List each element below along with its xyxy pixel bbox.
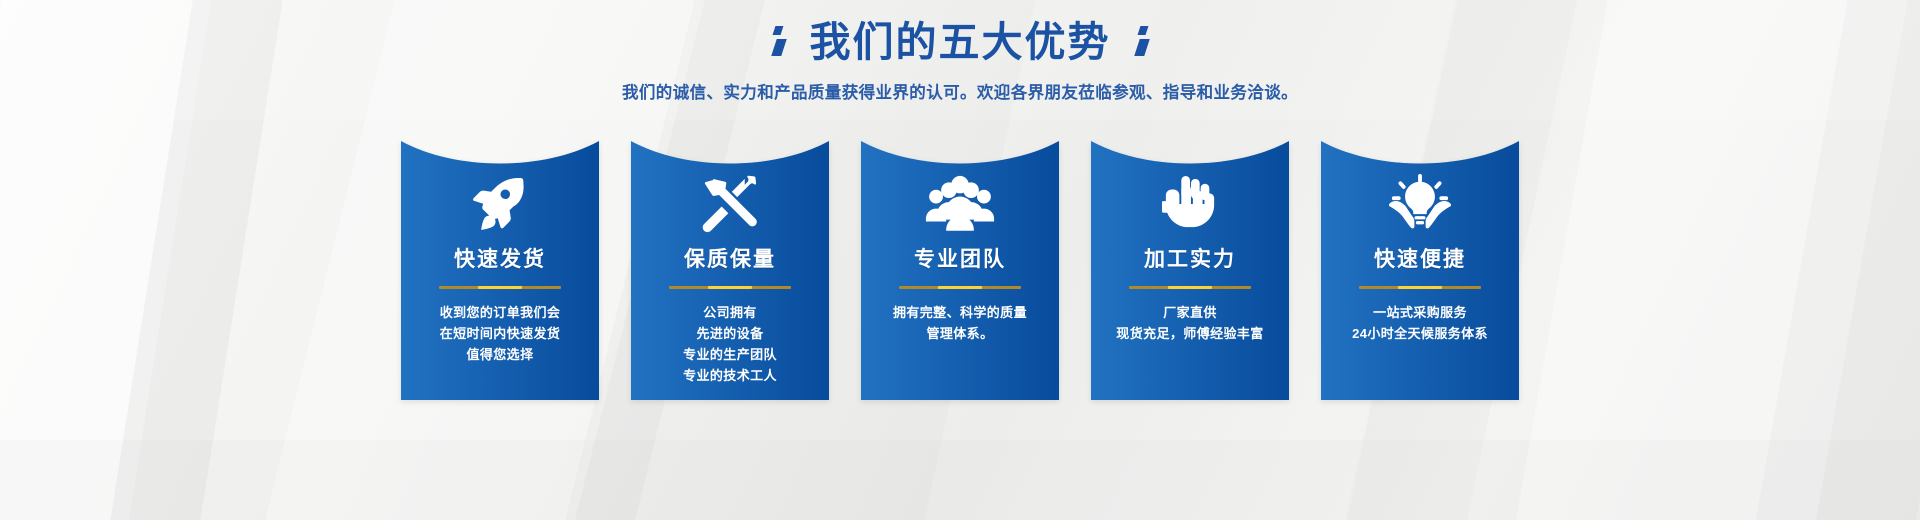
advantage-card-list: 快速发货 收到您的订单我们会 在短时间内快速发货 值得您选择 xyxy=(0,141,1920,400)
page-subtitle: 我们的诚信、实力和产品质量获得业界的认可。欢迎各界朋友莅临参观、指导和业务洽谈。 xyxy=(0,79,1920,103)
card-body: 厂家直供 现货充足，师傅经验丰富 xyxy=(1106,302,1273,344)
advantage-card[interactable]: 专业团队 拥有完整、科学的质量 管理体系。 xyxy=(861,141,1059,400)
bg-band-bottom xyxy=(0,440,1920,520)
card-body: 一站式采购服务 24小时全天候服务体系 xyxy=(1342,302,1498,344)
advantage-card[interactable]: 加工实力 厂家直供 现货充足，师傅经验丰富 xyxy=(1091,141,1289,400)
card-title: 保质保量 xyxy=(684,249,776,270)
card-divider xyxy=(1359,286,1481,289)
card-title: 专业团队 xyxy=(914,249,1006,270)
title-row: 我们的五大优势 xyxy=(0,22,1920,63)
card-divider xyxy=(439,286,561,289)
card-body: 公司拥有 先进的设备 专业的生产团队 专业的技术工人 xyxy=(673,302,787,386)
rocket-icon xyxy=(401,141,599,253)
diamond-dots-right-icon xyxy=(1137,26,1147,60)
banner-stage: 我们的五大优势 我们的诚信、实力和产品质量获得业界的认可。欢迎各界朋友莅临参观、… xyxy=(0,0,1920,520)
card-divider xyxy=(899,286,1021,289)
page-title: 我们的五大优势 xyxy=(810,22,1111,63)
card-title: 加工实力 xyxy=(1144,249,1236,270)
advantage-card[interactable]: 保质保量 公司拥有 先进的设备 专业的生产团队 专业的技术工人 xyxy=(631,141,829,400)
lightbulb-hands-icon xyxy=(1321,141,1519,253)
people-group-icon xyxy=(861,141,1059,253)
card-title: 快速便捷 xyxy=(1374,249,1466,270)
card-title: 快速发货 xyxy=(454,249,546,270)
advantage-card[interactable]: 快速发货 收到您的订单我们会 在短时间内快速发货 值得您选择 xyxy=(401,141,599,400)
card-body: 收到您的订单我们会 在短时间内快速发货 值得您选择 xyxy=(430,302,571,365)
card-divider xyxy=(1129,286,1251,289)
card-body: 拥有完整、科学的质量 管理体系。 xyxy=(883,302,1037,344)
diamond-dots-left-icon xyxy=(774,26,784,60)
wrench-screwdriver-icon xyxy=(631,141,829,253)
advantage-card[interactable]: 快速便捷 一站式采购服务 24小时全天候服务体系 xyxy=(1321,141,1519,400)
card-divider xyxy=(669,286,791,289)
fist-icon xyxy=(1091,141,1289,253)
